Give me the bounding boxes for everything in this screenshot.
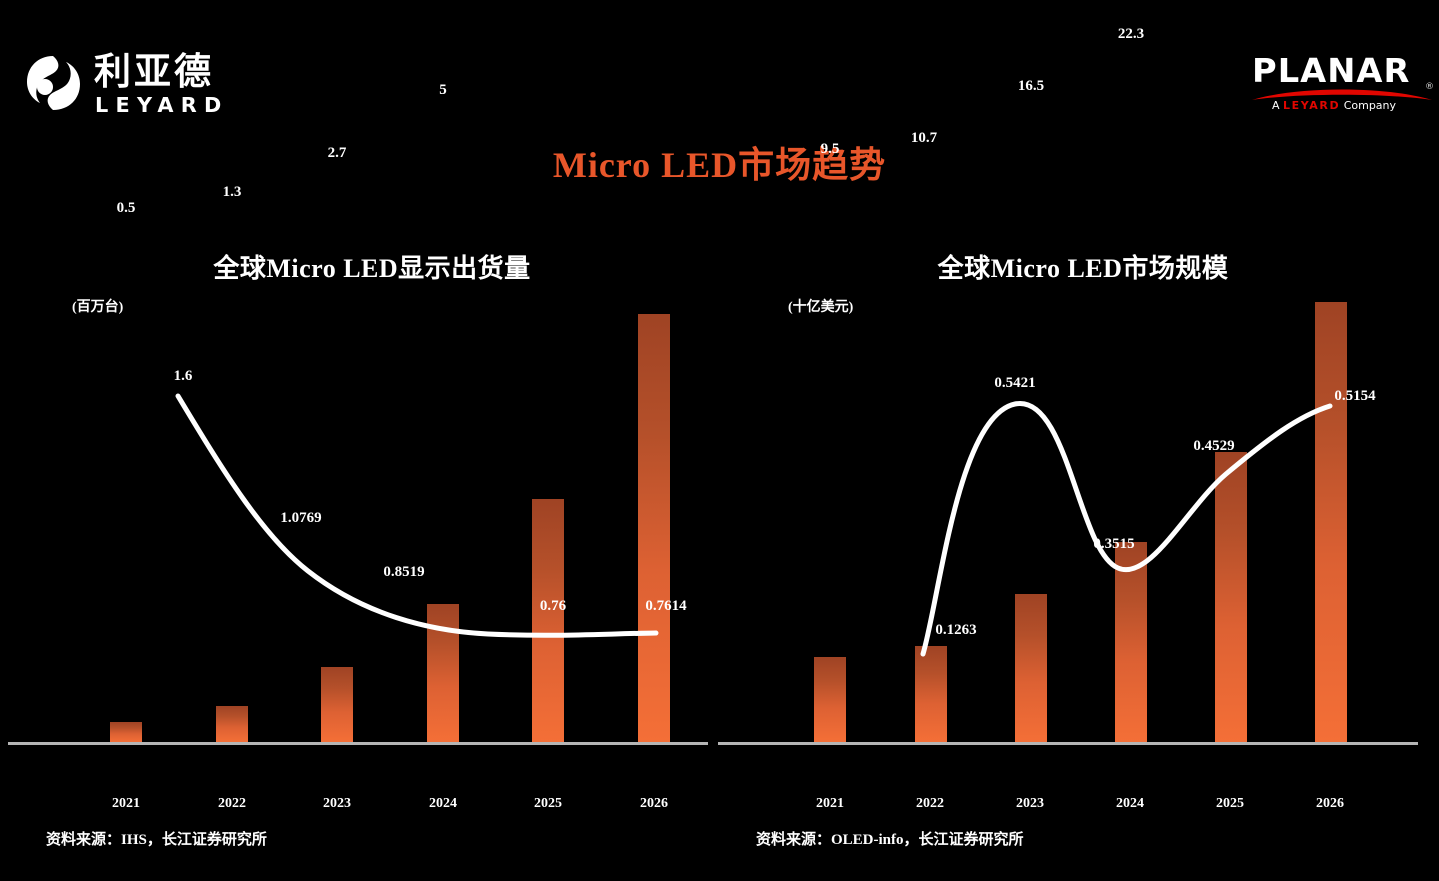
x-tick: 2025 xyxy=(1195,796,1265,812)
chart-title-shipments: 全球Micro LED显示出货量 xyxy=(8,248,718,285)
x-axis-line-market-size xyxy=(718,742,1418,745)
chart-svg-shipments xyxy=(8,296,718,796)
chart-panel-market-size: 全球Micro LED市场规模 (十亿美元) xyxy=(718,236,1428,866)
line-value-label: 0.1263 xyxy=(935,622,976,639)
chart-source-shipments: 资料来源：IHS，长江证券研究所 xyxy=(46,828,267,849)
plot-area-market-size: 9.5 10.7 16.5 22.3 32.4 49.1 0.1263 0.54… xyxy=(718,296,1428,796)
x-tick: 2023 xyxy=(995,796,1065,812)
planar-wordmark: PLANAR xyxy=(1252,54,1436,88)
bar-value-label: 22.3 xyxy=(1118,26,1144,43)
slide-canvas: 利亚德 LEYARD PLANAR ® A LEYARD Company Mic… xyxy=(0,0,1439,881)
chart-panel-shipments: 全球Micro LED显示出货量 (百万台) xyxy=(8,236,718,866)
x-tick: 2026 xyxy=(1295,796,1365,812)
page-title: Micro LED市场趋势 xyxy=(0,136,1439,188)
x-tick: 2024 xyxy=(408,796,478,812)
line-value-label: 0.4529 xyxy=(1193,438,1234,455)
planar-tagline-prefix: A xyxy=(1272,99,1280,112)
bar-value-label: 2.7 xyxy=(328,145,347,162)
leyard-logo: 利亚德 LEYARD xyxy=(24,52,254,118)
chart-title-market-size: 全球Micro LED市场规模 xyxy=(718,248,1428,285)
plot-area-shipments: 0.5 1.3 2.7 5 8.8 15.5 1.6 1.0769 0.8519… xyxy=(8,296,718,796)
line-value-label: 1.0769 xyxy=(280,510,321,527)
line-value-label: 0.5421 xyxy=(994,375,1035,392)
line-value-label: 0.5154 xyxy=(1334,388,1375,405)
line-value-label: 0.76 xyxy=(540,598,566,615)
line-series-shipments-path xyxy=(178,396,656,635)
x-tick: 2026 xyxy=(619,796,689,812)
line-value-label: 0.3515 xyxy=(1093,536,1134,553)
bar-value-label: 16.5 xyxy=(1018,78,1044,95)
chart-svg-market-size xyxy=(718,296,1428,796)
planar-logo: PLANAR ® A LEYARD Company xyxy=(1252,54,1432,116)
planar-tagline-brand: LEYARD xyxy=(1283,99,1340,112)
leyard-chinese-wordmark: 利亚德 xyxy=(94,50,214,94)
planar-tagline: A LEYARD Company xyxy=(1272,99,1396,113)
planar-tagline-suffix: Company xyxy=(1344,99,1396,112)
bar-value-label: 10.7 xyxy=(911,130,937,147)
line-value-label: 0.8519 xyxy=(383,564,424,581)
chart-source-market-size: 资料来源：OLED-info，长江证券研究所 xyxy=(756,828,1024,849)
leyard-latin-wordmark: LEYARD xyxy=(95,94,229,116)
leyard-swirl-icon xyxy=(24,54,82,112)
x-axis-line-shipments xyxy=(8,742,708,745)
line-value-label: 0.7614 xyxy=(645,598,686,615)
x-tick: 2023 xyxy=(302,796,372,812)
bar-value-label: 9.5 xyxy=(821,141,840,158)
x-axis-labels-shipments: 2021 2022 2023 2024 2025 2026 xyxy=(8,796,718,822)
x-tick: 2022 xyxy=(197,796,267,812)
bar-value-label: 1.3 xyxy=(223,184,242,201)
x-tick: 2024 xyxy=(1095,796,1165,812)
x-tick: 2025 xyxy=(513,796,583,812)
x-axis-labels-market-size: 2021 2022 2023 2024 2025 2026 xyxy=(718,796,1428,822)
bar-value-label: 0.5 xyxy=(117,200,136,217)
x-tick: 2021 xyxy=(91,796,161,812)
line-value-label: 1.6 xyxy=(174,368,193,385)
bar-value-label: 5 xyxy=(439,82,447,99)
bar-series-market-size xyxy=(814,302,1347,742)
bar-series-shipments xyxy=(110,314,670,742)
x-tick: 2021 xyxy=(795,796,865,812)
x-tick: 2022 xyxy=(895,796,965,812)
